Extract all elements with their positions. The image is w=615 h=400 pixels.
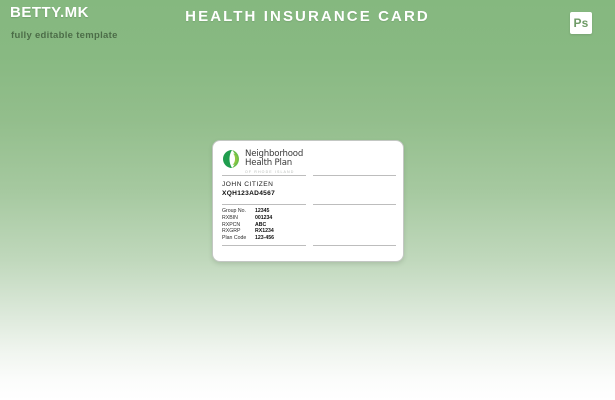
card-logo: Neighborhood Health Plan OF RHODE ISLAND (222, 149, 303, 175)
card-logo-text: Neighborhood Health Plan OF RHODE ISLAND (245, 149, 303, 175)
plan-details-table: Group No. 12345 RXBIN 001234 RXPCN ABC R… (222, 208, 274, 242)
divider-line-top-left (222, 175, 306, 176)
divider-line-bottom-left (222, 245, 306, 246)
detail-value: ABC (255, 222, 274, 229)
neighborhood-health-plan-logo-icon (222, 149, 242, 169)
brand-tagline: fully editable template (11, 31, 118, 41)
detail-value: RX1234 (255, 228, 274, 235)
detail-label: Group No. (222, 208, 255, 215)
card-content: Neighborhood Health Plan OF RHODE ISLAND… (213, 141, 403, 261)
divider-line-top-right (313, 175, 396, 176)
member-id: XQH123AD4567 (222, 189, 275, 198)
divider-line-middle-right (313, 204, 396, 205)
table-row: Plan Code 123-456 (222, 235, 274, 242)
logo-line-2: Health Plan (245, 159, 303, 168)
divider-line-bottom-right (313, 245, 396, 246)
table-row: Group No. 12345 (222, 208, 274, 215)
member-info: JOHN CITIZEN XQH123AD4567 (222, 180, 275, 198)
detail-label: RXGRP (222, 228, 255, 235)
detail-label: RXBIN (222, 215, 255, 222)
template-preview-canvas: BETTY.MK fully editable template HEALTH … (0, 0, 615, 400)
page-title: HEALTH INSURANCE CARD (0, 9, 615, 24)
detail-label: RXPCN (222, 222, 255, 229)
health-insurance-card[interactable]: Neighborhood Health Plan OF RHODE ISLAND… (212, 140, 404, 262)
photoshop-file-icon[interactable]: Ps (570, 12, 592, 34)
table-row: RXGRP RX1234 (222, 228, 274, 235)
photoshop-file-icon-label: Ps (570, 12, 592, 34)
table-row: RXPCN ABC (222, 222, 274, 229)
detail-value: 123-456 (255, 235, 274, 242)
detail-value: 12345 (255, 208, 274, 215)
table-row: RXBIN 001234 (222, 215, 274, 222)
divider-line-middle-left (222, 204, 306, 205)
member-name: JOHN CITIZEN (222, 180, 275, 189)
logo-line-3: OF RHODE ISLAND (245, 168, 303, 175)
detail-label: Plan Code (222, 235, 255, 242)
detail-value: 001234 (255, 215, 274, 222)
